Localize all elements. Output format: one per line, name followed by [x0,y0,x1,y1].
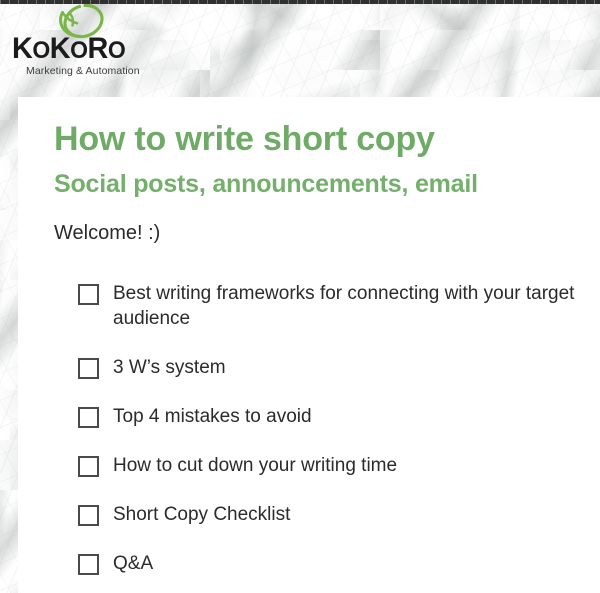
checkbox-icon[interactable] [78,407,99,428]
checkbox-icon[interactable] [78,284,99,305]
slide-subtitle: Social posts, announcements, email [54,171,478,199]
slide-title: How to write short copy [54,121,435,158]
wordmark-char-o3: O [108,37,125,64]
checkbox-icon[interactable] [78,505,99,526]
list-item-label: Top 4 mistakes to avoid [113,404,312,429]
slide-content-card: How to write short copy Social posts, an… [18,97,600,593]
brand-tagline: Marketing & Automation [26,66,166,77]
agenda-checklist: Best writing frameworks for connecting w… [78,281,588,577]
list-item-label: 3 W’s system [113,355,226,380]
checkbox-icon[interactable] [78,554,99,575]
list-item[interactable]: Short Copy Checklist [78,502,588,527]
wordmark-char-o2: O [70,37,87,64]
list-item[interactable]: Q&A [78,551,588,576]
wordmark-char-k1: K [12,32,32,65]
wordmark-char-k2: K [50,32,70,65]
list-item-label: Best writing frameworks for connecting w… [113,281,581,331]
list-item[interactable]: 3 W’s system [78,355,588,380]
list-item[interactable]: Top 4 mistakes to avoid [78,404,588,429]
checkbox-icon[interactable] [78,456,99,477]
brand-logo: KOKORO Marketing & Automation [12,2,147,82]
presentation-slide: KOKORO Marketing & Automation How to wri… [0,0,600,593]
list-item-label: Short Copy Checklist [113,502,290,527]
wordmark-char-r: R [88,32,108,65]
welcome-text: Welcome! :) [54,221,160,245]
list-item-label: How to cut down your writing time [113,453,397,478]
list-item[interactable]: Best writing frameworks for connecting w… [78,281,588,331]
top-ruler-strip [0,0,600,4]
checkbox-icon[interactable] [78,358,99,379]
list-item-label: Q&A [113,551,153,576]
list-item[interactable]: How to cut down your writing time [78,453,588,478]
brand-wordmark: KOKORO [12,34,142,64]
wordmark-char-o1: O [32,37,49,64]
